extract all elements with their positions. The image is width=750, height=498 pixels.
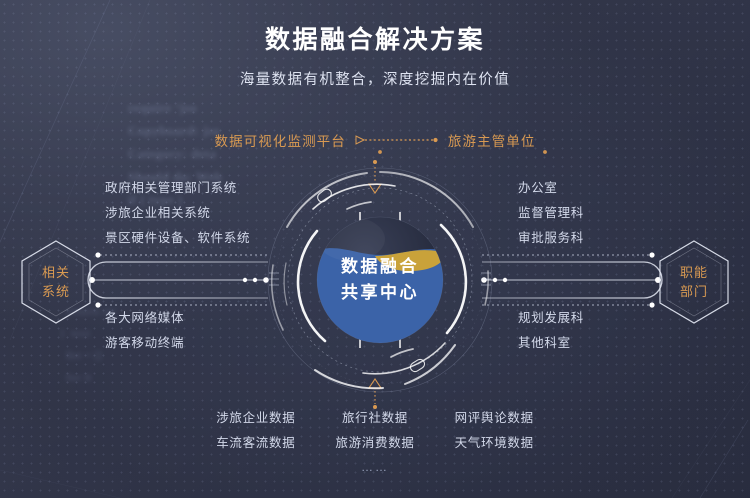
list-item[interactable]: 涉旅企业相关系统 (105, 201, 250, 226)
list-item[interactable]: 景区硬件设备、软件系统 (105, 226, 250, 251)
table-cell[interactable]: 天气环境数据 (435, 429, 554, 454)
center-hub-graphic (255, 155, 505, 405)
list-item[interactable]: 办公室 (518, 176, 584, 201)
page-title: 数据融合解决方案 (0, 24, 750, 56)
hexagon-functional-departments[interactable]: 职能 部门 (656, 238, 732, 326)
list-item[interactable]: 其他科室 (518, 331, 584, 356)
data-category-table: 涉旅企业数据 旅行社数据 网评舆论数据 车流客流数据 旅游消费数据 天气环境数据 (196, 404, 554, 454)
list-item[interactable]: 各大网络媒体 (105, 306, 184, 331)
hexagon-left-line2: 系统 (42, 282, 70, 301)
hexagon-left-line1: 相关 (42, 263, 70, 282)
header: 数据融合解决方案 海量数据有机整合，深度挖掘内在价值 (0, 24, 750, 90)
table-cell[interactable]: 车流客流数据 (196, 429, 315, 454)
label-tourism-authority[interactable]: 旅游主管单位 (448, 130, 536, 150)
right-top-department-list: 办公室 监督管理科 审批服务科 (518, 176, 584, 251)
list-item[interactable]: 政府相关管理部门系统 (105, 176, 250, 201)
table-cell[interactable]: 旅游消费数据 (315, 429, 434, 454)
hexagon-related-systems[interactable]: 相关 系统 (18, 238, 94, 326)
hexagon-right-label: 职能 部门 (656, 238, 732, 326)
hexagon-right-line2: 部门 (680, 282, 708, 301)
data-sphere (310, 217, 451, 355)
left-bottom-source-list: 各大网络媒体 游客移动终端 (105, 306, 184, 356)
dotted-left-arrow-icon (354, 133, 440, 147)
right-bottom-department-list: 规划发展科 其他科室 (518, 306, 584, 356)
table-cell[interactable]: 涉旅企业数据 (196, 404, 315, 429)
table-cell[interactable]: 旅行社数据 (315, 404, 434, 429)
label-visualization-platform[interactable]: 数据可视化监测平台 (214, 130, 345, 150)
list-item[interactable]: 规划发展科 (518, 306, 584, 331)
ellipsis-indicator: …… (0, 460, 750, 474)
left-top-source-list: 政府相关管理部门系统 涉旅企业相关系统 景区硬件设备、软件系统 (105, 176, 250, 251)
left-pipe-group (88, 252, 269, 307)
bottom-data-grid: 涉旅企业数据 旅行社数据 网评舆论数据 车流客流数据 旅游消费数据 天气环境数据… (0, 404, 750, 474)
table-row: 涉旅企业数据 旅行社数据 网评舆论数据 (196, 404, 554, 429)
infographic-canvas: require ‘jso Copyboard: jso Category: de… (0, 0, 750, 498)
table-cell[interactable]: 网评舆论数据 (435, 404, 554, 429)
right-pipe-group (481, 252, 662, 307)
table-row: 车流客流数据 旅游消费数据 天气环境数据 (196, 429, 554, 454)
top-label-row: 数据可视化监测平台 旅游主管单位 (0, 130, 750, 150)
list-item[interactable]: 游客移动终端 (105, 331, 184, 356)
amber-stem-top-left (378, 150, 382, 154)
hexagon-right-line1: 职能 (680, 263, 708, 282)
hexagon-left-label: 相关 系统 (18, 238, 94, 326)
list-item[interactable]: 审批服务科 (518, 226, 584, 251)
amber-stem-top-right (543, 150, 547, 154)
list-item[interactable]: 监督管理科 (518, 201, 584, 226)
page-subtitle: 海量数据有机整合，深度挖掘内在价值 (0, 70, 750, 90)
